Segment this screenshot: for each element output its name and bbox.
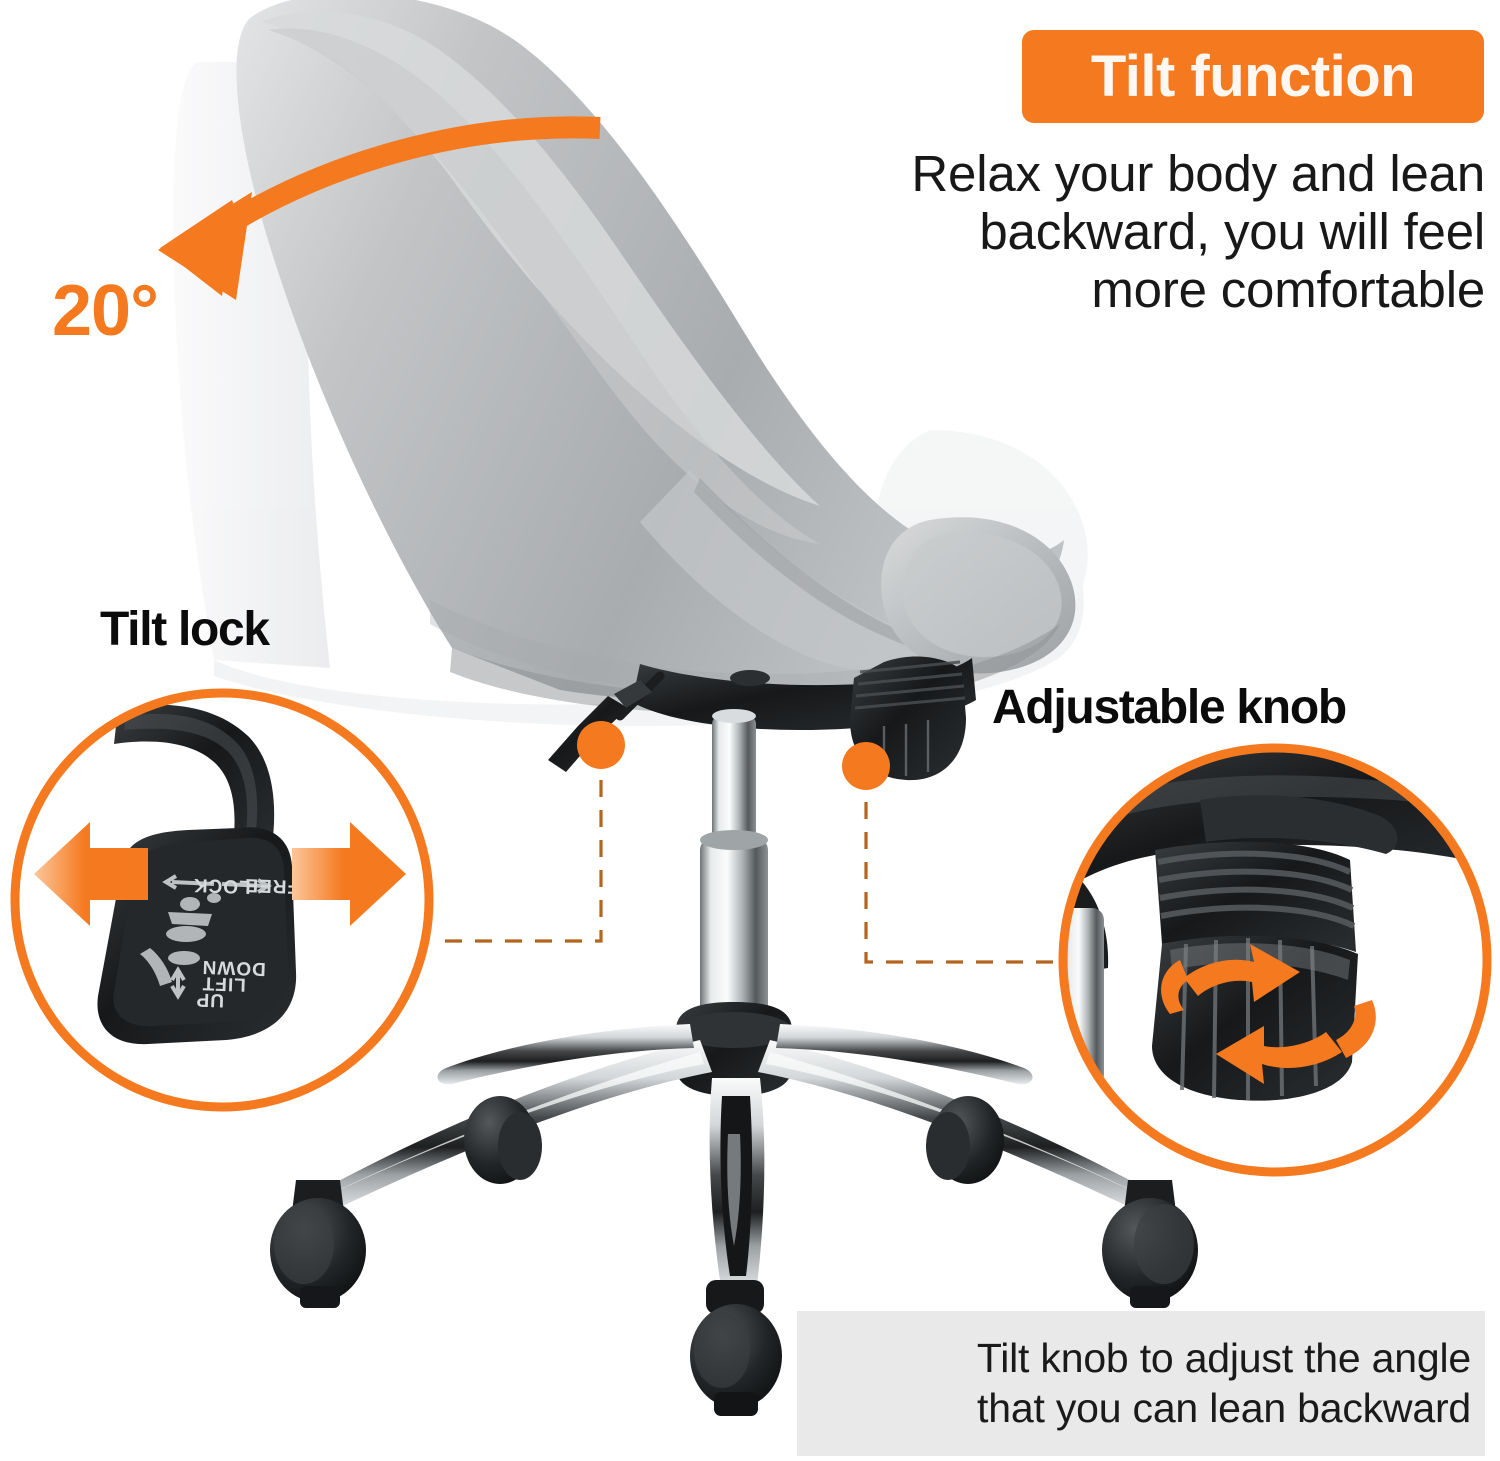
tilt-desc-line-3: more comfortable [770, 261, 1485, 319]
adjustable-knob-marker-dot [842, 742, 890, 790]
tilt-desc-line-2: backward, you will feel [770, 203, 1485, 261]
tilt-angle-label: 20° [52, 275, 158, 347]
tilt-lock-heading: Tilt lock [100, 606, 269, 654]
chair-mechanism [270, 656, 1198, 1416]
tilt-lock-inset: LOCK FREE DOWN LIFT UP [15, 693, 429, 1107]
tilt-function-badge-label: Tilt function [1091, 48, 1415, 106]
tilt-function-badge: Tilt function [1022, 30, 1484, 123]
svg-text:UP: UP [195, 989, 224, 1011]
adjustable-knob-inset [1055, 748, 1500, 1180]
tilt-knob-caption-line-2: that you can lean backward [823, 1384, 1471, 1433]
product-infographic: LOCK FREE DOWN LIFT UP [0, 0, 1500, 1461]
adjustable-knob-heading: Adjustable knob [992, 684, 1346, 732]
svg-text:LOCK: LOCK [193, 874, 252, 897]
tilt-knob-caption-line-1: Tilt knob to adjust the angle [823, 1334, 1471, 1383]
tilt-knob-caption: Tilt knob to adjust the angle that you c… [797, 1311, 1485, 1456]
tilt-lock-callout [438, 750, 601, 941]
tilt-lock-marker-dot [577, 721, 625, 769]
svg-text:FREE: FREE [244, 874, 299, 897]
tilt-desc-line-1: Relax your body and lean [770, 145, 1485, 203]
chair-body [236, 0, 1075, 713]
adjustable-knob-callout [866, 772, 1055, 962]
tilt-function-description: Relax your body and lean backward, you w… [770, 145, 1485, 319]
